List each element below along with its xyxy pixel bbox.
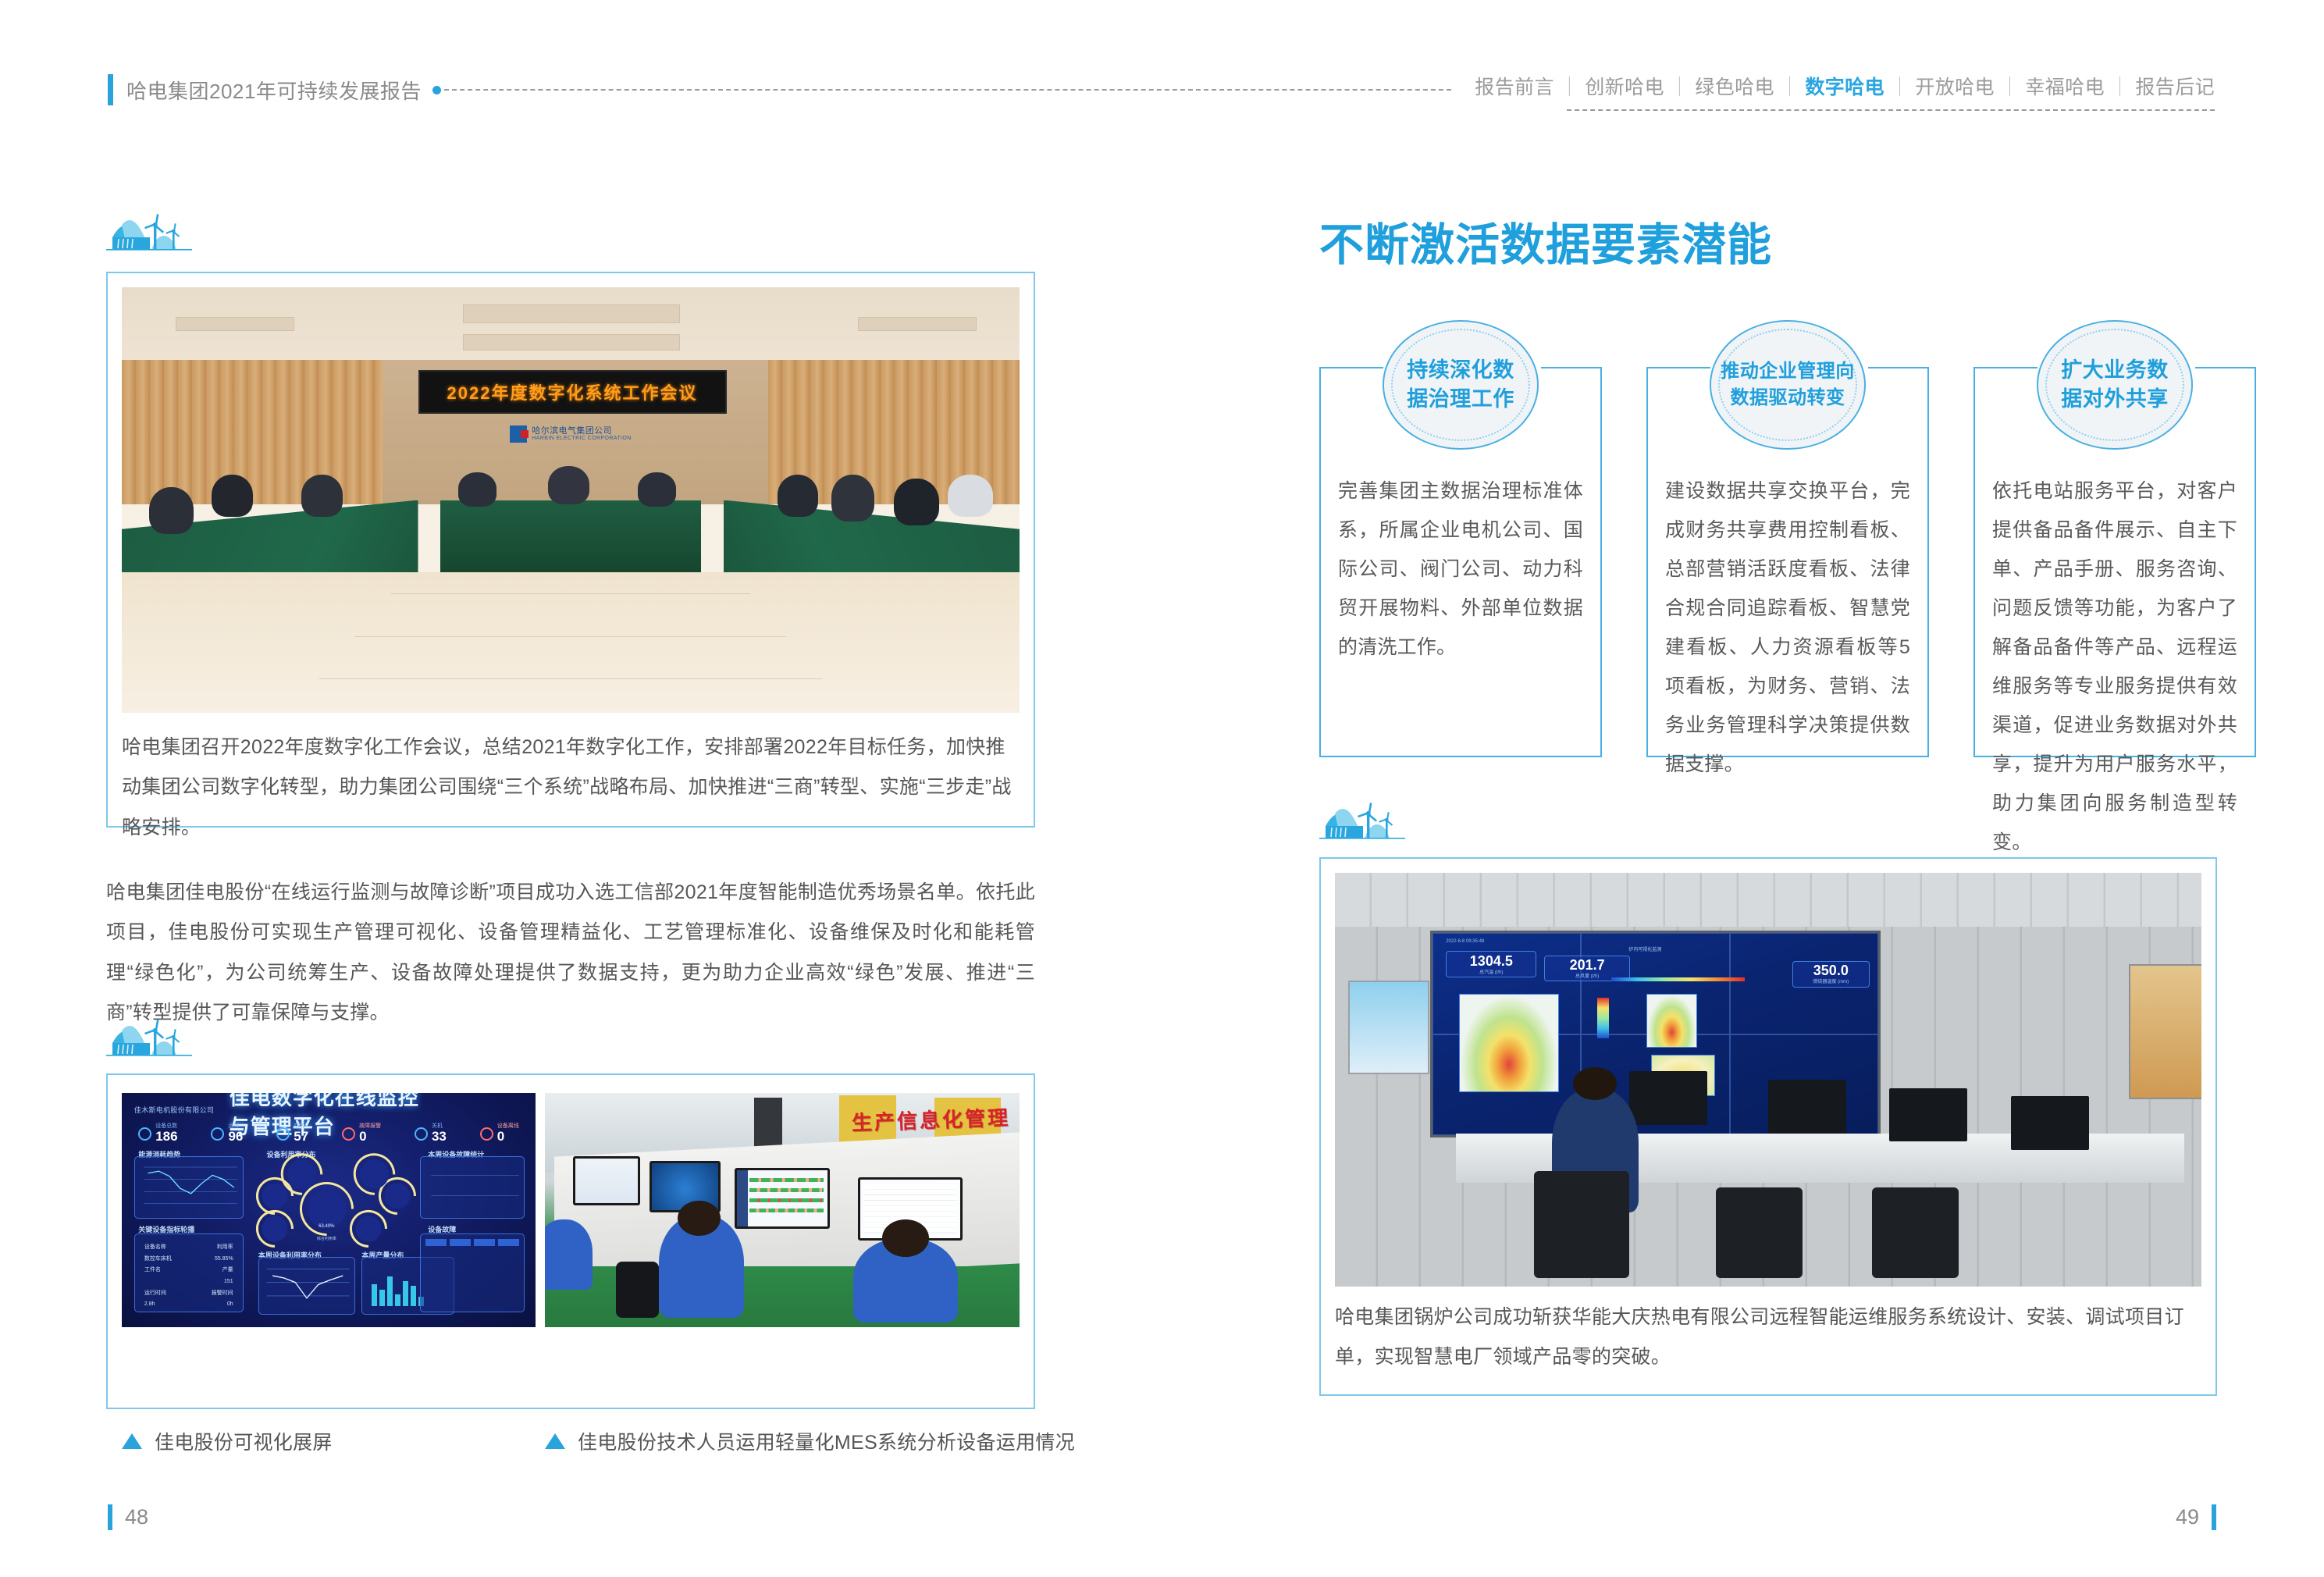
logo-cn: 哈尔滨电气集团公司	[532, 426, 631, 436]
caption-text: 佳电股份技术人员运用轻量化MES系统分析设备运用情况	[578, 1427, 1075, 1455]
header-accent-bar	[108, 74, 113, 105]
body-paragraph-block: 哈电集团佳电股份“在线运行监测与故障诊断”项目成功入选工信部2021年度智能制造…	[106, 873, 1035, 1033]
office-chair	[616, 1262, 659, 1318]
nav-item-3-active[interactable]: 数字哈电	[1805, 77, 1884, 98]
card-data-driven-management: 推动企业管理向 数据驱动转变 建设数据共享交换平台，完成财务共享费用控制看板、总…	[1646, 367, 1929, 757]
page-number-value: 49	[2176, 1505, 2199, 1529]
page-header: 哈电集团2021年可持续发展报告 报告前言｜创新哈电｜绿色哈电｜数字哈电｜开放哈…	[0, 72, 2324, 119]
left-wall	[122, 360, 383, 504]
header-dashed-rule	[444, 89, 1451, 91]
table-value: 利用率	[217, 1242, 233, 1254]
mes-caption: 佳电股份技术人员运用轻量化MES系统分析设备运用情况	[545, 1427, 1075, 1455]
desk-monitor	[1629, 1071, 1707, 1125]
output-bars	[372, 1271, 424, 1306]
seated-person	[778, 475, 819, 518]
monitor-screen	[737, 1170, 827, 1226]
table-row: 151	[144, 1276, 233, 1288]
seated-person	[831, 475, 874, 522]
device-total-icon	[138, 1127, 151, 1141]
floor-tile-line	[319, 678, 822, 679]
seated-person	[458, 472, 496, 507]
office-chair	[1534, 1171, 1629, 1279]
hydro-wind-decor-icon	[106, 209, 192, 264]
page-number-value: 48	[125, 1505, 148, 1529]
head-table	[440, 500, 701, 573]
card-badge: 扩大业务数 据对外共享	[2037, 320, 2193, 450]
table-row: 数控车床机 55.85%	[144, 1254, 233, 1266]
nav-item-6[interactable]: 报告后记	[2135, 77, 2215, 98]
kpi-value: 0	[359, 1129, 366, 1144]
ceiling-panel	[463, 334, 680, 351]
kpi-label: 总风量 (t/h)	[1575, 972, 1599, 979]
kpi-steam-temp: 1304.5 总汽温 (t/h)	[1446, 951, 1536, 977]
table-key: 2.8h	[144, 1299, 155, 1311]
table-value: 报警时间	[212, 1288, 233, 1300]
thermal-legend	[1597, 998, 1608, 1038]
energy-trend-card	[134, 1156, 244, 1219]
card-data-sharing: 扩大业务数 据对外共享 依托电站服务平台，对客户提供备品备件展示、自主下单、产品…	[1973, 367, 2256, 757]
card-title-line1: 推动企业管理向	[1721, 361, 1855, 383]
seated-person	[212, 475, 253, 518]
kpi-item: 设备总数 186	[138, 1123, 177, 1144]
hydro-wind-decor-icon-2	[106, 1015, 192, 1070]
triangle-bullet-icon	[122, 1433, 142, 1449]
control-room-photo: 2022-6-8 09:35:48 炉内可视化监测 1304.5 总汽温 (t/…	[1335, 873, 2201, 1287]
logo-mark-icon	[510, 425, 527, 443]
weekly-utilization-card	[258, 1257, 355, 1315]
dashboard-kpi-row: 设备总数 186 运行 96 空闲 57	[138, 1123, 519, 1144]
desk-monitor	[1768, 1080, 1846, 1134]
seated-person	[548, 466, 589, 504]
page-number-left: 48	[108, 1504, 148, 1530]
furnace-thermal-map-2	[1646, 994, 1697, 1048]
factory-slogan: 生产信息化管理	[851, 1102, 1010, 1136]
report-title: 哈电集团2021年可持续发展报告	[126, 76, 422, 105]
nav-item-2[interactable]: 绿色哈电	[1695, 77, 1774, 98]
nav-sep-3: ｜	[1884, 77, 1915, 98]
table-value: 55.85%	[215, 1254, 233, 1266]
card-badge: 推动企业管理向 数据驱动转变	[1710, 320, 1866, 450]
thermal-color-bar	[1611, 977, 1745, 981]
triangle-bullet-icon	[545, 1433, 565, 1449]
card-body-text: 建设数据共享交换平台，完成财务共享费用控制看板、总部营销活跃度看板、法律合规合同…	[1648, 472, 1927, 784]
seated-person	[638, 472, 675, 507]
nav-sep-5: ｜	[2105, 77, 2135, 98]
monitor	[735, 1168, 830, 1229]
nav-item-4[interactable]: 开放哈电	[1915, 77, 1995, 98]
worker	[545, 1219, 593, 1290]
office-chair	[1872, 1187, 1959, 1279]
side-display	[2129, 964, 2201, 1100]
header-left: 哈电集团2021年可持续发展报告	[108, 72, 1451, 108]
dashboard-corp-name: 佳木斯电机股份有限公司	[134, 1105, 214, 1115]
corporate-logo: 哈尔滨电气集团公司 HARBIN ELECTRIC CORPORATION	[490, 422, 652, 447]
video-wall-timestamp: 2022-6-8 09:35:48	[1446, 939, 1484, 944]
body-text: 哈电集团佳电股份“在线运行监测与故障诊断”项目成功入选工信部2021年度智能制造…	[106, 873, 1035, 1033]
kpi-label: 燃烧器温度 (mm)	[1813, 977, 1849, 984]
floor-tile-line	[391, 593, 750, 594]
report-spread: 哈电集团2021年可持续发展报告 报告前言｜创新哈电｜绿色哈电｜数字哈电｜开放哈…	[0, 0, 2324, 1577]
nav-sep-1: ｜	[1664, 77, 1695, 98]
key-device-table-card: 设备名称 利用率 数控车床机 55.85% 工件名 产量 151 运行时间 报警…	[134, 1233, 244, 1312]
nav-item-0[interactable]: 报告前言	[1475, 77, 1554, 98]
card-title-line2: 据治理工作	[1407, 387, 1514, 411]
card-body-text: 完善集团主数据治理标准体系，所属企业电机公司、国际公司、阀门公司、动力科贸开展物…	[1321, 472, 1600, 667]
visualization-dashboard-photo: 佳木斯电机股份有限公司 佳电数字化在线监控与管理平台 设备总数 186 运行 9…	[122, 1093, 536, 1327]
kpi-item: 设备离线 0	[480, 1123, 519, 1144]
ceiling-panel	[463, 304, 680, 323]
kpi-value: 350.0	[1813, 963, 1849, 977]
nav-sep-0: ｜	[1554, 77, 1585, 98]
kpi-burner-temp: 350.0 燃烧器温度 (mm)	[1792, 961, 1870, 987]
worker-head	[678, 1201, 721, 1236]
idle-icon	[276, 1127, 290, 1141]
header-right: 报告前言｜创新哈电｜绿色哈电｜数字哈电｜开放哈电｜幸福哈电｜报告后记	[1475, 72, 2215, 111]
desk-monitor	[2011, 1096, 2089, 1150]
table-key: 设备名称	[144, 1242, 166, 1254]
furnace-thermal-map	[1459, 994, 1559, 1092]
header-right-dashed-rule	[1567, 109, 2215, 111]
ceiling	[1335, 873, 2201, 927]
worker-head	[882, 1219, 930, 1257]
card-title-line1: 持续深化数	[1407, 358, 1514, 383]
table-row: 2.8h 0h	[144, 1299, 233, 1311]
control-room-caption: 哈电集团锅炉公司成功斩获华能大庆热电有限公司远程智能运维服务系统设计、安装、调试…	[1335, 1298, 2201, 1378]
table-row: 设备名称 利用率	[144, 1242, 233, 1254]
table-key: 工件名	[144, 1265, 161, 1276]
gauge-overall-label: 综合利用率	[300, 1236, 354, 1241]
table-row: 运行时间 报警时间	[144, 1288, 233, 1300]
caption-text: 佳电股份可视化展屏	[155, 1427, 333, 1455]
device-fault-table-card	[420, 1233, 525, 1312]
page-accent-bar	[2212, 1504, 2216, 1530]
kpi-item: 空闲 57	[276, 1123, 308, 1144]
kpi-label: 总汽温 (t/h)	[1479, 968, 1503, 975]
caption-text: 哈电集团锅炉公司成功斩获华能大庆热电有限公司远程智能运维服务系统设计、安装、调试…	[1335, 1298, 2201, 1378]
office-chair	[1716, 1187, 1803, 1279]
card-body-text: 依托电站服务平台，对客户提供备品备件展示、自主下单、产品手册、服务咨询、问题反馈…	[1975, 472, 2255, 862]
meeting-photo-caption: 哈电集团召开2022年度数字化工作会议，总结2021年数字化工作，安排部署202…	[122, 728, 1020, 848]
kpi-value: 186	[155, 1129, 177, 1144]
table-value: 0h	[227, 1299, 233, 1311]
monitor-screen	[575, 1159, 637, 1203]
floor-tile-line	[355, 636, 786, 637]
table-key: 数控车床机	[144, 1254, 172, 1266]
logo-en: HARBIN ELECTRIC CORPORATION	[532, 436, 631, 442]
gauge-punch-workshop	[248, 1202, 301, 1255]
nav-sep-4: ｜	[1995, 77, 2025, 98]
shutdown-icon	[415, 1127, 428, 1141]
hydro-wind-decor-icon-3	[1319, 798, 1405, 853]
kpi-item: 运行 96	[211, 1123, 243, 1144]
meeting-room-photo: 2022年度数字化系统工作会议 哈尔滨电气集团公司 HARBIN ELECTRI…	[122, 287, 1020, 713]
kpi-value: 57	[294, 1129, 308, 1144]
header-dot-icon	[432, 86, 441, 94]
seated-person	[301, 475, 343, 518]
table-value: 151	[224, 1276, 233, 1288]
kpi-value: 201.7	[1570, 958, 1605, 972]
nav-sep-2: ｜	[1774, 77, 1805, 98]
kpi-item: 关机 33	[415, 1123, 447, 1144]
seated-person	[894, 479, 939, 525]
mes-workstation-photo: 生产信息化管理	[545, 1093, 1020, 1327]
card-badge: 持续深化数 据治理工作	[1383, 320, 1539, 450]
card-title-line1: 扩大业务数	[2061, 358, 2169, 383]
video-wall-panel-title: 炉内可视化监测	[1628, 945, 1661, 952]
section-heading: 不断激活数据要素潜能	[1319, 209, 1772, 273]
seated-person	[948, 475, 993, 518]
kpi-value: 96	[228, 1129, 243, 1144]
page-number-right: 49	[2176, 1504, 2216, 1530]
table-key: 运行时间	[144, 1288, 166, 1300]
table-value: 产量	[222, 1265, 233, 1276]
kpi-value: 1304.5	[1470, 954, 1513, 968]
ceiling-panel	[858, 317, 977, 331]
page-accent-bar	[108, 1504, 112, 1530]
dashboard-caption: 佳电股份可视化展屏	[122, 1427, 333, 1455]
nav-item-1[interactable]: 创新哈电	[1585, 77, 1664, 98]
kpi-item: 故障报警 0	[342, 1123, 381, 1144]
meeting-banner: 2022年度数字化系统工作会议	[418, 370, 727, 414]
gauge-overall-value: 63.40%	[300, 1224, 354, 1229]
alarm-icon	[342, 1127, 355, 1141]
desk-monitor	[1889, 1088, 1967, 1142]
offline-icon	[480, 1127, 493, 1141]
seated-person	[149, 487, 194, 534]
ceiling-panel	[176, 317, 294, 331]
dashboard-title: 佳电数字化在线监控与管理平台	[230, 1100, 428, 1121]
card-title-line2: 数据驱动转变	[1731, 387, 1845, 409]
table-row: 工件名 产量	[144, 1265, 233, 1276]
side-display-left	[1348, 981, 1429, 1075]
kpi-value: 0	[497, 1129, 504, 1144]
kpi-value: 33	[432, 1129, 447, 1144]
operator-head	[1573, 1067, 1617, 1100]
monitor	[573, 1156, 639, 1205]
section-nav[interactable]: 报告前言｜创新哈电｜绿色哈电｜数字哈电｜开放哈电｜幸福哈电｜报告后记	[1475, 72, 2215, 100]
card-title-line2: 据对外共享	[2061, 387, 2169, 411]
running-icon	[211, 1127, 224, 1141]
nav-item-5[interactable]: 幸福哈电	[2025, 77, 2105, 98]
card-data-governance: 持续深化数 据治理工作 完善集团主数据治理标准体系，所属企业电机公司、国际公司、…	[1319, 367, 1602, 757]
capability-cards: 持续深化数 据治理工作 完善集团主数据治理标准体系，所属企业电机公司、国际公司、…	[1319, 367, 2256, 757]
caption-text: 哈电集团召开2022年度数字化工作会议，总结2021年数字化工作，安排部署202…	[122, 728, 1020, 848]
weekly-fault-card	[420, 1156, 525, 1219]
